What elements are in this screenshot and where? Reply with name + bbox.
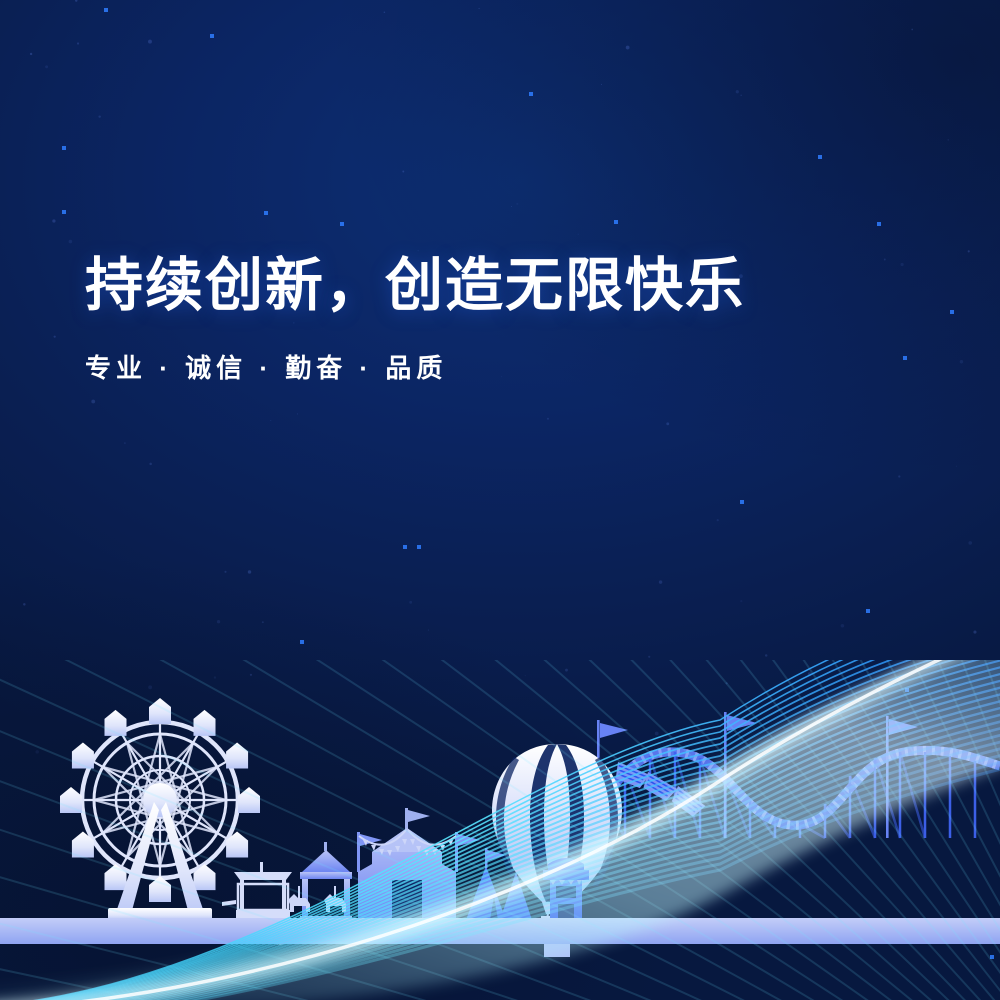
page-title: 持续创新，创造无限快乐: [85, 255, 745, 316]
hero-copy: 持续创新，创造无限快乐 专业 · 诚信 · 勤奋 · 品质: [85, 255, 745, 385]
light-ray-mesh: [0, 660, 1000, 1000]
page-subtitle: 专业 · 诚信 · 勤奋 · 品质: [85, 348, 745, 385]
banner-canvas: 持续创新，创造无限快乐 专业 · 诚信 · 勤奋 · 品质: [0, 0, 1000, 1000]
